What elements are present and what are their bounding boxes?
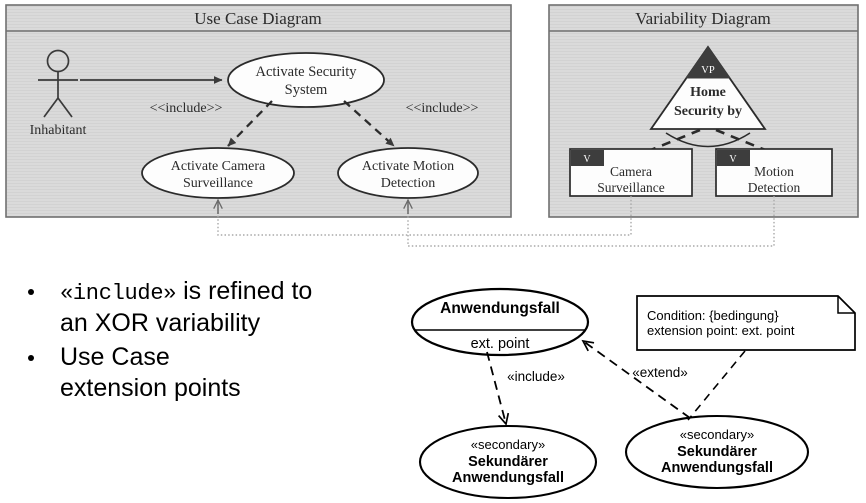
uc-activate-motion-detection-line2: Detection (381, 176, 435, 191)
v-motion-detection: V Motion Detection (716, 149, 832, 196)
edge-include-motion-label: <<include>> (406, 101, 479, 116)
uc-activate-security-system: Activate Security System (228, 53, 384, 107)
v-motion-detection-line1: Motion (754, 164, 794, 179)
note-condition: Condition: {bedingung} extension point: … (637, 296, 855, 350)
variation-point-badge-label: VP (701, 65, 715, 76)
edge-include-secondary-left (487, 352, 506, 424)
bullet-list: «include» is refined to an XOR variabili… (10, 276, 410, 407)
uc-anwendungsfall-compartment: ext. point (471, 336, 530, 352)
uc-secondary-right: «secondary» Sekundärer Anwendungsfall (626, 416, 808, 488)
edge-include-camera-label: <<include>> (150, 101, 223, 116)
uc-activate-security-system-shape (228, 53, 384, 107)
edge-extend-label: «extend» (632, 365, 688, 380)
v-camera-surveillance-line2: Surveillance (597, 180, 664, 195)
note-condition-line2: extension point: ext. point (647, 323, 795, 338)
uc-secondary-right-stereotype: «secondary» (680, 427, 754, 442)
v-motion-detection-line2: Detection (748, 180, 801, 195)
bullet-text-usecase: Use Case (60, 343, 170, 371)
v-motion-detection-badge-label: V (729, 154, 737, 165)
uc-secondary-right-line1: Sekundärer (677, 444, 757, 460)
uc-secondary-left: «secondary» Sekundärer Anwendungsfall (420, 426, 596, 498)
bullet-item-extension-points: Use Case extension points (10, 342, 410, 403)
uc-activate-motion-detection: Activate Motion Detection (338, 148, 478, 198)
bullet-item-include-refinement: «include» is refined to an XOR variabili… (10, 276, 410, 338)
v-camera-surveillance-badge-label: V (583, 154, 591, 165)
variability-diagram-panel: Variability Diagram VP Home Security by … (549, 5, 858, 217)
note-condition-line1: Condition: {bedingung} (647, 308, 779, 323)
uc-anwendungsfall: Anwendungsfall ext. point (412, 289, 588, 355)
use-case-diagram-panel: Use Case Diagram Inhabitant Activate Sec… (6, 5, 511, 217)
variation-point-line2: Security by (674, 104, 742, 119)
bullet-keyword-include: «include» (60, 281, 176, 306)
uc-secondary-left-line1: Sekundärer (468, 454, 548, 470)
slide-canvas: Use Case Diagram Inhabitant Activate Sec… (0, 0, 866, 503)
uc-activate-camera-surveillance: Activate Camera Surveillance (142, 148, 294, 198)
note-anchor-line (688, 351, 745, 420)
bullet-text-usecase-line2: extension points (60, 373, 410, 404)
bullet-dot-icon (28, 355, 34, 361)
variation-point-line1: Home (690, 85, 726, 100)
variability-panel-title: Variability Diagram (635, 9, 771, 28)
bullet-dot-icon (28, 289, 34, 295)
diagram-layer: Use Case Diagram Inhabitant Activate Sec… (0, 0, 866, 503)
uc-activate-camera-surveillance-line1: Activate Camera (171, 159, 266, 174)
uc-activate-camera-surveillance-line2: Surveillance (183, 176, 253, 191)
v-camera-surveillance-line1: Camera (610, 164, 652, 179)
bullet-text-include-line2: an XOR variability (60, 308, 410, 339)
edge-include-label: «include» (507, 369, 565, 384)
uc-secondary-left-stereotype: «secondary» (471, 437, 545, 452)
uc-activate-motion-detection-line1: Activate Motion (362, 159, 454, 174)
uc-activate-security-system-line2: System (285, 82, 328, 98)
v-camera-surveillance: V Camera Surveillance (570, 149, 692, 196)
actor-label: Inhabitant (30, 123, 87, 138)
use-case-panel-title: Use Case Diagram (194, 9, 321, 28)
uc-anwendungsfall-name: Anwendungsfall (440, 300, 560, 317)
uc-secondary-left-line2: Anwendungsfall (452, 470, 564, 486)
bullet-text-include-rest: is refined to (176, 277, 312, 305)
uc-activate-security-system-line1: Activate Security (255, 64, 357, 80)
uc-secondary-right-line2: Anwendungsfall (661, 460, 773, 476)
extension-point-diagram: Anwendungsfall ext. point Condition: {be… (412, 289, 855, 498)
